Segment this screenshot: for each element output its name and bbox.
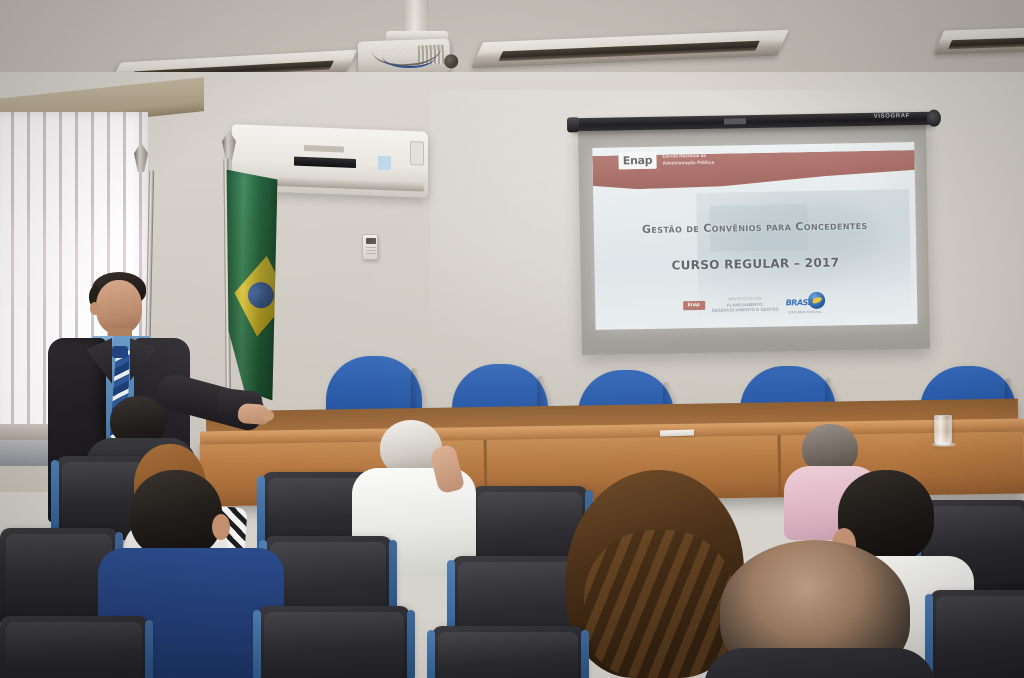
- enap-logo: Enap: [618, 152, 656, 170]
- audience-chair: [0, 616, 148, 678]
- person-ear: [212, 514, 230, 540]
- ceiling-light-fixture: [934, 25, 1024, 54]
- person-hair: [130, 470, 222, 558]
- brasil-logo-tagline: GOVERNO FEDERAL: [788, 310, 823, 315]
- audience-chair: [432, 626, 584, 678]
- ministry-line3: DESENVOLVIMENTO E GESTÃO: [712, 307, 779, 314]
- projector-mount-pole: [405, 0, 429, 34]
- person-torso: [704, 648, 936, 678]
- presenter-tie-knot: [112, 346, 128, 358]
- screen-brand-label: VISOGRAF: [874, 113, 910, 120]
- paper-sheet: [660, 430, 694, 437]
- presenter-hand: [237, 403, 270, 425]
- audience-chair: [930, 590, 1024, 678]
- classroom-scene: VISOGRAF Enap Escola Nacional de Adminis…: [0, 0, 1024, 678]
- enap-subtitle-line2: Administração Pública: [663, 159, 737, 167]
- projection-screen: Enap Escola Nacional de Administração Pú…: [578, 123, 930, 355]
- presentation-slide: Enap Escola Nacional de Administração Pú…: [592, 142, 917, 330]
- water-glass: [934, 415, 952, 445]
- audience-chair: [258, 606, 410, 678]
- thermostat-icon[interactable]: [362, 234, 378, 260]
- footer-enap-badge: Enap: [683, 301, 705, 310]
- enap-logo-subtitle: Escola Nacional de Administração Pública: [662, 152, 736, 167]
- brasil-government-logo: BRASIL GOVERNO FEDERAL: [786, 295, 830, 312]
- person-hair-highlights: [584, 530, 734, 678]
- brasil-logo-word: BRASIL: [786, 298, 815, 308]
- footer-ministry-text: MINISTÉRIO DO PLANEJAMENTO, DESENVOLVIME…: [712, 296, 779, 314]
- presenter-ear: [90, 302, 99, 315]
- enap-logo-text: Enap: [623, 154, 653, 168]
- presenter-head: [96, 280, 142, 334]
